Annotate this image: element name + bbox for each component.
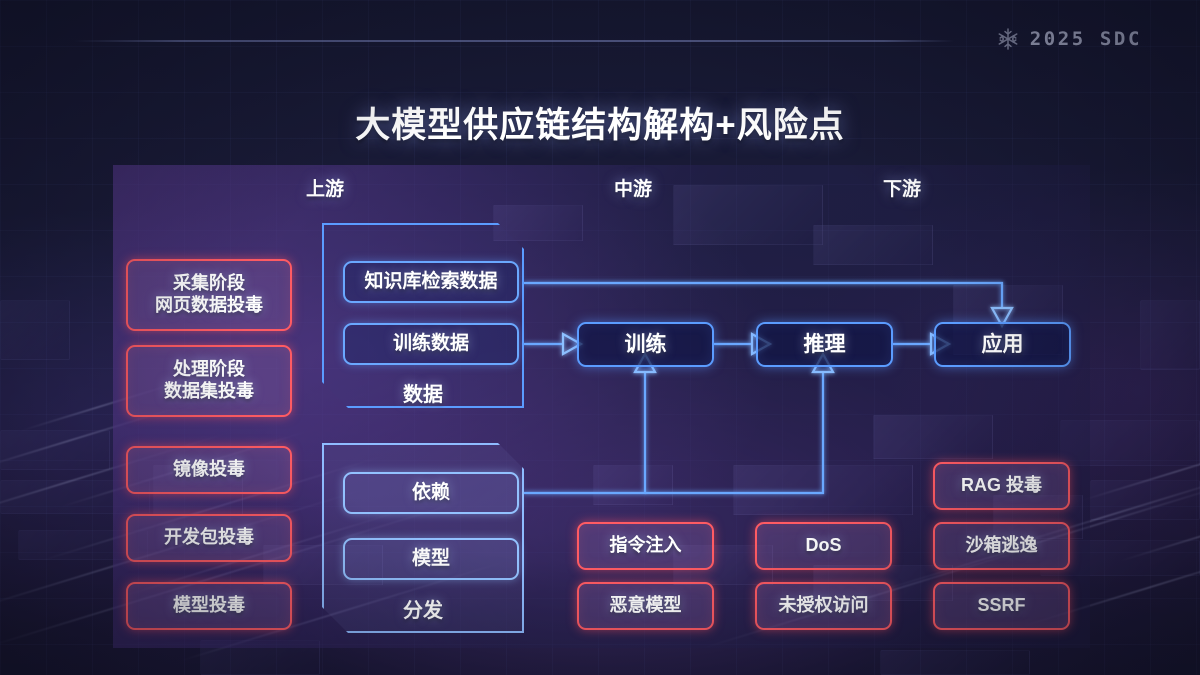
flow-node-train[interactable]: 训练 [577, 322, 714, 367]
risk-line-1: 采集阶段 [173, 273, 245, 295]
top-bar: 2025 SDC [0, 0, 1200, 72]
risk-collection-stage[interactable]: 采集阶段 网页数据投毒 [126, 259, 292, 331]
chip-training-data[interactable]: 训练数据 [343, 323, 519, 365]
group-label-distribution: 分发 [322, 594, 524, 623]
snowflake-icon [996, 27, 1020, 51]
header-divider [74, 40, 954, 42]
risk-processing-stage[interactable]: 处理阶段 数据集投毒 [126, 345, 292, 417]
page-title: 大模型供应链结构解构+风险点 [0, 97, 1200, 148]
risk-model-poisoning[interactable]: 模型投毒 [126, 582, 292, 630]
chip-knowledge-base-data[interactable]: 知识库检索数据 [343, 261, 519, 303]
risk-line-2: 数据集投毒 [164, 381, 254, 403]
brand-logo: 2025 SDC [996, 27, 1142, 51]
flow-node-inference[interactable]: 推理 [756, 322, 893, 367]
risk-unauthorized-access[interactable]: 未授权访问 [755, 582, 892, 630]
slide-canvas: 2025 SDC 大模型供应链结构解构+风险点 [0, 0, 1200, 675]
stage-heading-midstream: 中游 [614, 174, 652, 201]
stage-heading-downstream: 下游 [883, 174, 921, 201]
risk-line-2: 网页数据投毒 [155, 295, 263, 317]
risk-dos[interactable]: DoS [755, 522, 892, 570]
risk-line-1: 处理阶段 [173, 359, 245, 381]
chip-model[interactable]: 模型 [343, 538, 519, 580]
brand-text: 2025 SDC [1030, 28, 1142, 50]
risk-sandbox-escape[interactable]: 沙箱逃逸 [933, 522, 1070, 570]
chip-dependency[interactable]: 依赖 [343, 472, 519, 514]
risk-image-poisoning[interactable]: 镜像投毒 [126, 446, 292, 494]
risk-malicious-model[interactable]: 恶意模型 [577, 582, 714, 630]
risk-sdk-poisoning[interactable]: 开发包投毒 [126, 514, 292, 562]
group-label-data: 数据 [322, 378, 524, 407]
risk-ssrf[interactable]: SSRF [933, 582, 1070, 630]
flow-node-application[interactable]: 应用 [934, 322, 1071, 367]
risk-rag-poisoning[interactable]: RAG 投毒 [933, 462, 1070, 510]
stage-heading-upstream: 上游 [306, 174, 344, 201]
risk-prompt-injection[interactable]: 指令注入 [577, 522, 714, 570]
